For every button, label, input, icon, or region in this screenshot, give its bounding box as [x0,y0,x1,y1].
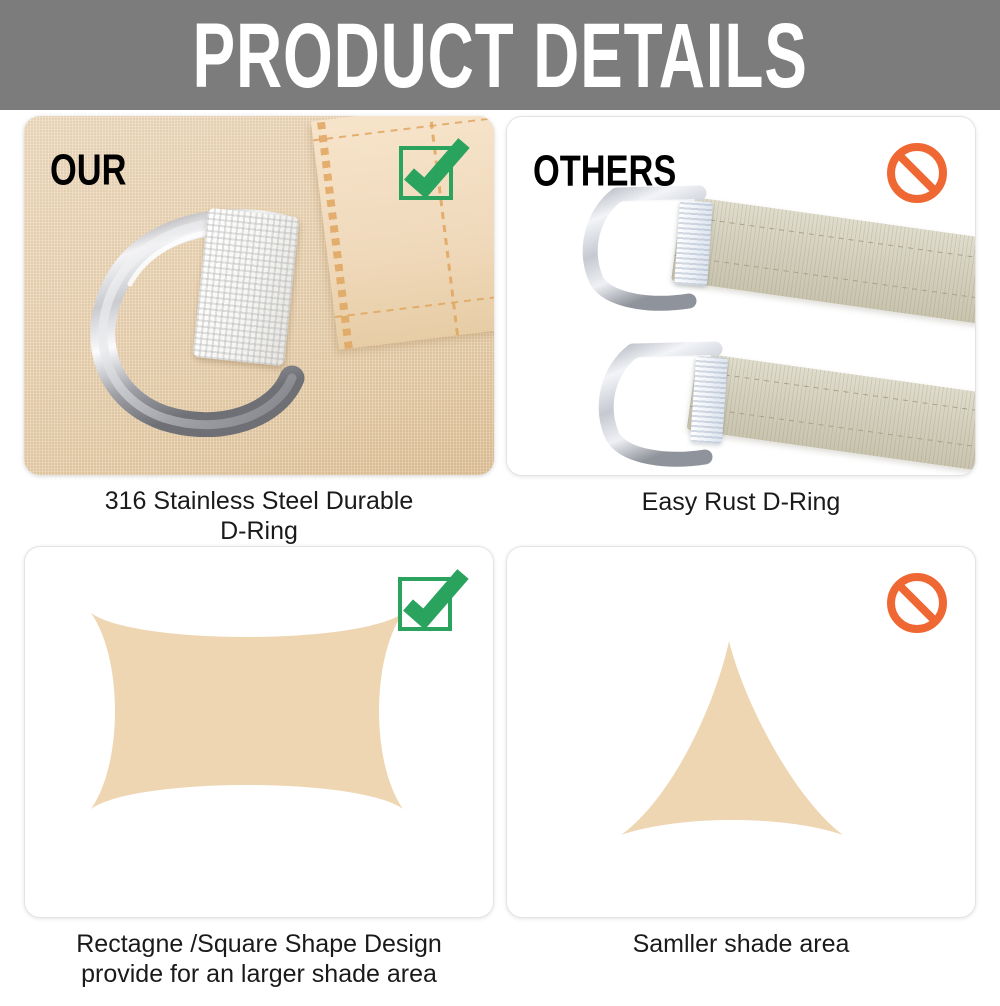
brand-label-others: OTHERS [533,147,676,197]
caption-line: Rectagne /Square Shape Design [29,930,489,960]
caption-our-shape: Rectagne /Square Shape Design provide fo… [29,930,489,989]
stitch-line [313,116,494,141]
rectangle-shade-sail-shape [87,611,407,811]
caption-others-shape: Samller shade area [511,930,971,960]
caption-line: 316 Stainless Steel Durable [29,487,489,517]
comparison-cell-others-d-ring: OTHERS Easy Rust D-Ring [500,116,982,546]
comparison-cell-our-shape: Rectagne /Square Shape Design provide fo… [18,546,500,1006]
page-header-banner: PRODUCT DETAILS [0,0,1000,110]
white-webbing-strap [192,208,299,367]
page-title: PRODUCT DETAILS [192,9,807,101]
triangle-shade-sail-shape [617,639,847,839]
caption-line: Easy Rust D-Ring [511,488,971,518]
product-image-card-rectangle-sail [24,546,494,918]
comparison-cell-our-d-ring: OUR 316 Stainless Steel Durable D-Ring [18,116,500,546]
caption-line: D-Ring [29,517,489,547]
white-webbing-loop-lower [690,356,728,444]
product-image-card-others-d-ring: OTHERS [506,116,976,476]
prohibition-icon [885,141,949,205]
brand-label-our: OUR [50,146,126,196]
green-check-icon [397,571,467,633]
caption-our-d-ring: 316 Stainless Steel Durable D-Ring [29,487,489,546]
white-webbing-loop-upper [674,200,713,286]
comparison-cell-others-shape: Samller shade area [500,546,982,1006]
stitch-line [335,287,494,318]
product-image-card-triangle-sail [506,546,976,918]
prohibition-icon [885,571,949,635]
green-check-icon [398,140,468,202]
product-image-card-our-d-ring: OUR [24,116,494,475]
caption-line: provide for an larger shade area [29,960,489,990]
comparison-grid: OUR 316 Stainless Steel Durable D-Ring [0,110,1000,1000]
caption-line: Samller shade area [511,930,971,960]
caption-others-d-ring: Easy Rust D-Ring [511,488,971,518]
